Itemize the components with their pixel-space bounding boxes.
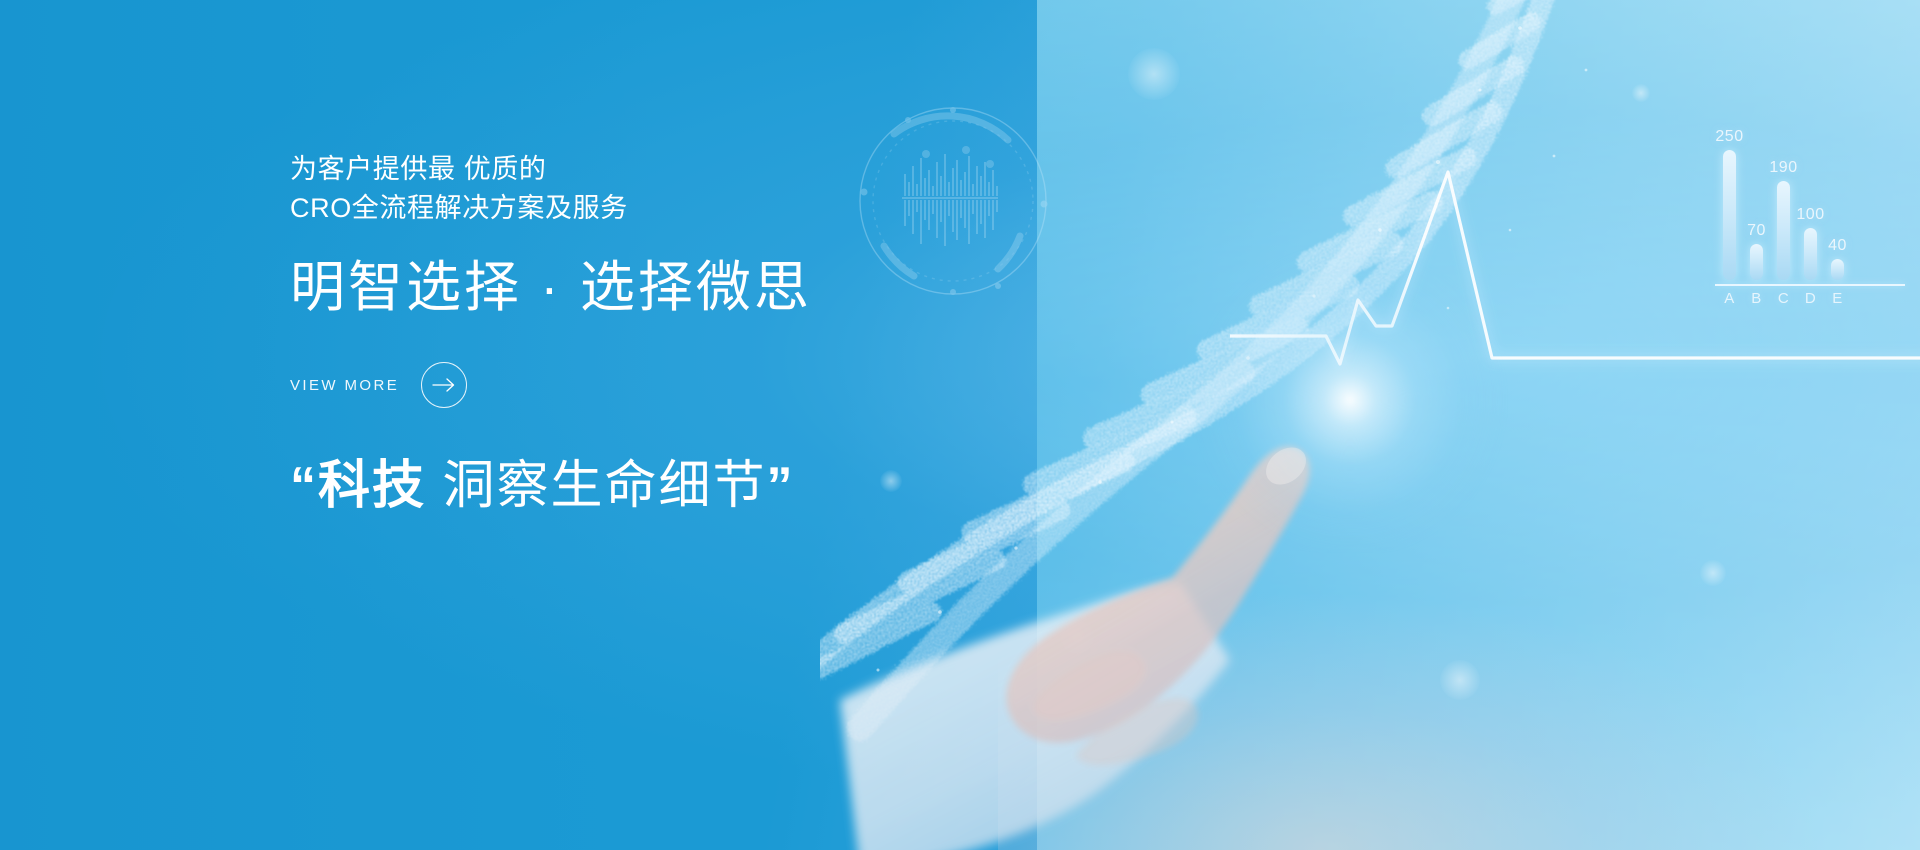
bar-value-label: 70	[1734, 222, 1780, 240]
touch-glow	[1190, 250, 1510, 550]
bokeh-dot	[1632, 84, 1650, 102]
bar-rect	[1750, 244, 1763, 280]
arrow-right-icon[interactable]	[421, 362, 467, 408]
bar-rect	[1777, 181, 1790, 280]
view-more-label: VIEW MORE	[290, 377, 399, 394]
quote-strong-text: 科技	[318, 457, 426, 515]
category-label: C	[1777, 290, 1790, 307]
bar-value-label: 190	[1761, 159, 1807, 177]
bar-chart-plot: 250 70 190 100 40	[1715, 150, 1905, 280]
hero-copy: 为客户提供最 优质的 CRO全流程解决方案及服务 明智选择 · 选择微思 VIE…	[290, 150, 1070, 516]
hero-subtitle-line-2: CRO全流程解决方案及服务	[290, 189, 1070, 228]
category-label: D	[1804, 290, 1817, 307]
category-label: B	[1750, 290, 1763, 307]
view-more-button[interactable]: VIEW MORE	[290, 362, 467, 408]
hero-subtitle-line-1: 为客户提供最 优质的	[290, 150, 1070, 189]
category-label: A	[1723, 290, 1736, 307]
bar-chart: 250 70 190 100 40 A B C	[1715, 150, 1905, 335]
bar-chart-category-labels: A B C D E	[1715, 286, 1905, 307]
bar-rect	[1723, 150, 1736, 280]
bar-column: 40	[1831, 150, 1844, 280]
bokeh-dot	[1700, 560, 1726, 586]
bar-column: 250	[1723, 150, 1736, 280]
bar-value-label: 40	[1815, 237, 1861, 255]
quote-light-text: 洞察生命细节	[442, 457, 766, 515]
quote-close-mark: ”	[766, 457, 794, 515]
hero-banner: 250 70 190 100 40 A B C	[0, 0, 1920, 850]
hero-quote: “科技 洞察生命细节”	[290, 458, 1070, 515]
bar-value-label: 250	[1707, 128, 1753, 146]
bar-rect	[1831, 259, 1844, 280]
hero-subtitle: 为客户提供最 优质的 CRO全流程解决方案及服务	[290, 150, 1070, 229]
category-label: E	[1831, 290, 1844, 307]
hero-headline: 明智选择 · 选择微思	[290, 257, 1070, 319]
bar-value-label: 100	[1788, 206, 1834, 224]
quote-open-mark: “	[290, 457, 318, 515]
quote-space	[426, 457, 442, 515]
bar-column: 100	[1804, 150, 1817, 280]
